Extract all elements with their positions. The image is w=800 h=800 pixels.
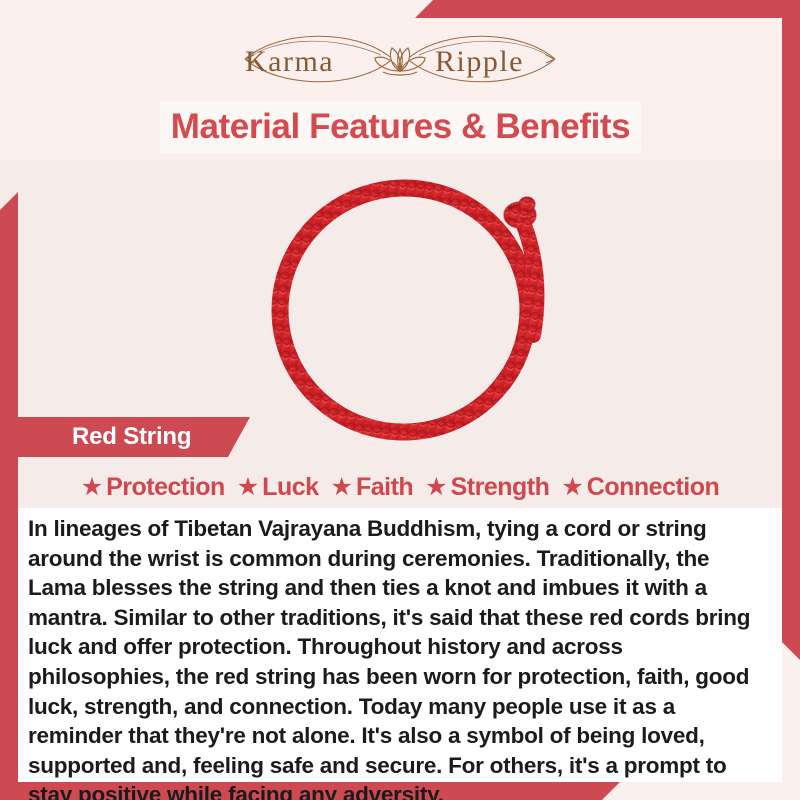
product-image-red-string-bracelet xyxy=(248,175,578,445)
brand-logo: Karma Ripple xyxy=(0,26,800,92)
benefits-row: ★ Protection ★ Luck ★ Faith ★ Strength ★… xyxy=(0,466,800,508)
description-panel: In lineages of Tibetan Vajrayana Buddhis… xyxy=(18,508,782,782)
frame-band-right xyxy=(782,0,800,660)
benefit-label: Connection xyxy=(587,473,720,502)
description-text: In lineages of Tibetan Vajrayana Buddhis… xyxy=(28,514,764,800)
title-banner: Material Features & Benefits xyxy=(160,101,641,153)
bracelet-illustration xyxy=(248,175,578,445)
star-icon: ★ xyxy=(561,475,583,500)
star-icon: ★ xyxy=(81,475,103,500)
page-title: Material Features & Benefits xyxy=(171,107,631,147)
benefit-item-strength: ★ Strength xyxy=(421,473,553,502)
benefit-item-faith: ★ Faith xyxy=(327,473,418,502)
benefit-label: Faith xyxy=(356,473,413,502)
benefit-item-protection: ★ Protection xyxy=(77,473,229,502)
star-icon: ★ xyxy=(331,475,353,500)
benefit-item-connection: ★ Connection xyxy=(557,473,723,502)
benefit-label: Luck xyxy=(262,473,318,502)
lotus-flourish-icon: Karma Ripple xyxy=(185,27,615,91)
benefit-label: Strength xyxy=(451,473,550,502)
ribbon-label-text: Red String xyxy=(72,423,191,451)
star-icon: ★ xyxy=(425,475,447,500)
benefit-item-luck: ★ Luck xyxy=(233,473,323,502)
star-icon: ★ xyxy=(237,475,259,500)
poster-root: Karma Ripple Material Features & Benefit… xyxy=(0,0,800,800)
benefit-label: Protection xyxy=(106,473,225,502)
brand-name-left: Karma xyxy=(245,45,334,78)
ribbon-label-red-string: Red String xyxy=(0,417,250,457)
frame-band-top xyxy=(415,0,800,18)
brand-name-right: Ripple xyxy=(435,45,524,78)
